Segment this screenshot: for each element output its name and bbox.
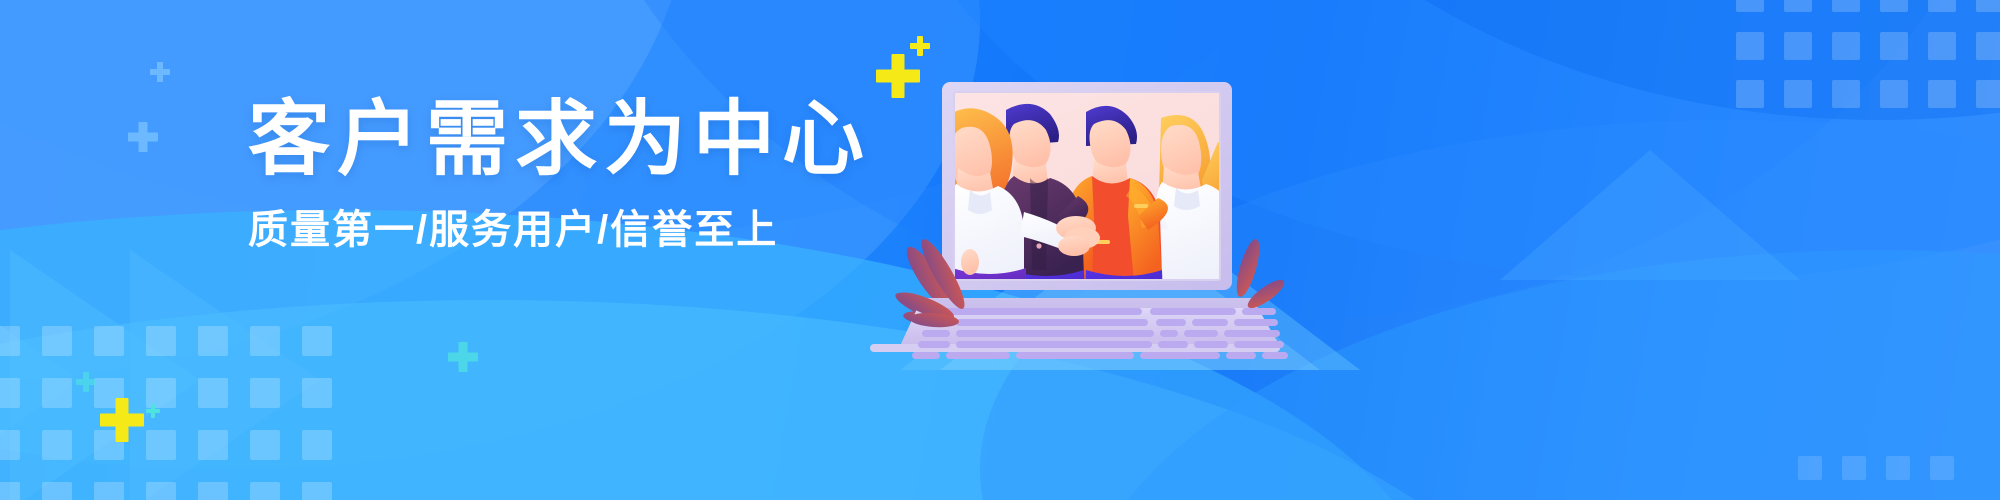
plus-white-faint-icon: [150, 62, 170, 82]
dot-grid-top-right: [1736, 0, 2000, 114]
plus-yellow-large-2-icon: [100, 398, 144, 442]
dot-grid-bottom-right: [1798, 456, 1960, 500]
plus-cyan-faint-icon: [76, 372, 96, 392]
plus-cyan-medium-icon: [448, 342, 478, 372]
banner-subline: 质量第一/服务用户/信誉至上: [248, 208, 868, 252]
banner-headline: 客户需求为中心: [248, 98, 868, 182]
laptop-illustration: [918, 56, 1318, 356]
plus-white-small-icon: [128, 122, 158, 152]
leaf-right-1: [1232, 237, 1264, 299]
banner-copy: 客户需求为中心 质量第一/服务用户/信誉至上: [248, 98, 868, 252]
plus-cyan-small-icon: [146, 404, 160, 418]
promo-banner: 客户需求为中心 质量第一/服务用户/信誉至上: [0, 0, 2000, 500]
plus-yellow-small-icon: [910, 36, 930, 56]
plus-yellow-large-icon: [876, 54, 920, 98]
dot-grid-bottom-left: [0, 326, 338, 500]
